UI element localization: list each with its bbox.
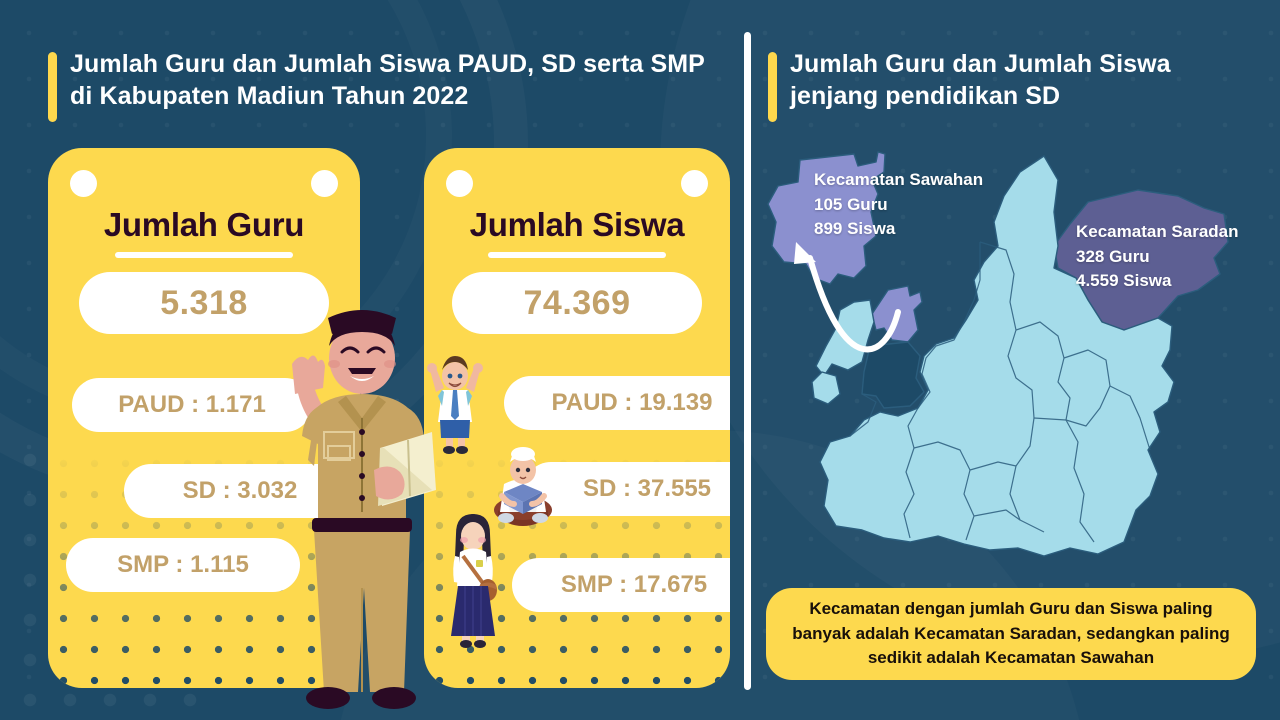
left-panel-title: Jumlah Guru dan Jumlah Siswa PAUD, SD se… xyxy=(70,48,730,112)
map-region-west-small xyxy=(812,372,840,404)
map-kabupaten-madiun: Kecamatan Sawahan 105 Guru 899 Siswa Kec… xyxy=(758,150,1268,570)
card-hole-right-icon xyxy=(311,170,338,197)
card-heading-siswa: Jumlah Siswa xyxy=(424,206,730,244)
card-hole-left-icon xyxy=(446,170,473,197)
map-label-sawahan-name: Kecamatan Sawahan xyxy=(814,168,983,193)
map-label-saradan: Kecamatan Saradan 328 Guru 4.559 Siswa xyxy=(1076,220,1239,294)
map-label-sawahan-guru: 105 Guru xyxy=(814,193,983,218)
map-label-saradan-guru: 328 Guru xyxy=(1076,245,1239,270)
map-label-sawahan: Kecamatan Sawahan 105 Guru 899 Siswa xyxy=(814,168,983,242)
infographic-canvas: Jumlah Guru dan Jumlah Siswa PAUD, SD se… xyxy=(0,0,1280,720)
map-label-sawahan-siswa: 899 Siswa xyxy=(814,217,983,242)
card-hole-right-icon xyxy=(681,170,708,197)
left-title-text: Jumlah Guru dan Jumlah Siswa PAUD, SD se… xyxy=(70,50,705,110)
card-underline xyxy=(488,252,666,258)
map-label-saradan-name: Kecamatan Saradan xyxy=(1076,220,1239,245)
card-hole-left-icon xyxy=(70,170,97,197)
map-label-saradan-siswa: 4.559 Siswa xyxy=(1076,269,1239,294)
card-heading-guru: Jumlah Guru xyxy=(48,206,360,244)
student-boy-cheering-icon xyxy=(424,352,486,456)
total-siswa-value: 74.369 xyxy=(452,272,702,334)
vertical-divider xyxy=(744,32,751,690)
siswa-paud-pill: PAUD : 19.139 xyxy=(504,376,730,430)
title-accent-bar xyxy=(768,52,777,122)
title-accent-bar xyxy=(48,52,57,122)
siswa-smp-pill: SMP : 17.675 xyxy=(512,558,730,612)
student-girl-icon xyxy=(443,508,503,650)
right-panel-title: Jumlah Guru dan Jumlah Siswa jenjang pen… xyxy=(790,48,1250,112)
map-summary-note: Kecamatan dengan jumlah Guru dan Siswa p… xyxy=(766,588,1256,680)
right-title-text: Jumlah Guru dan Jumlah Siswa jenjang pen… xyxy=(790,50,1171,110)
card-underline xyxy=(115,252,293,258)
